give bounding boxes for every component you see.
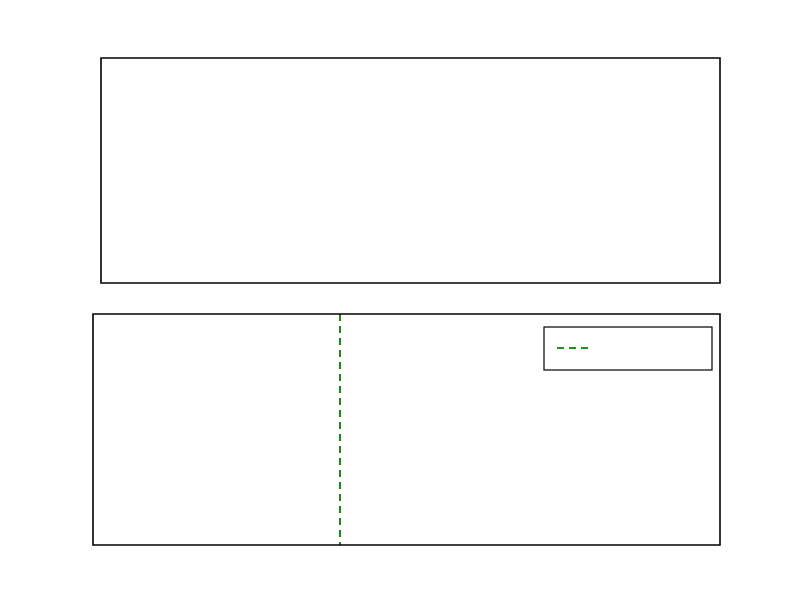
matplotlib-figure bbox=[0, 0, 800, 600]
figure-background bbox=[0, 0, 800, 600]
legend[interactable] bbox=[544, 327, 712, 370]
